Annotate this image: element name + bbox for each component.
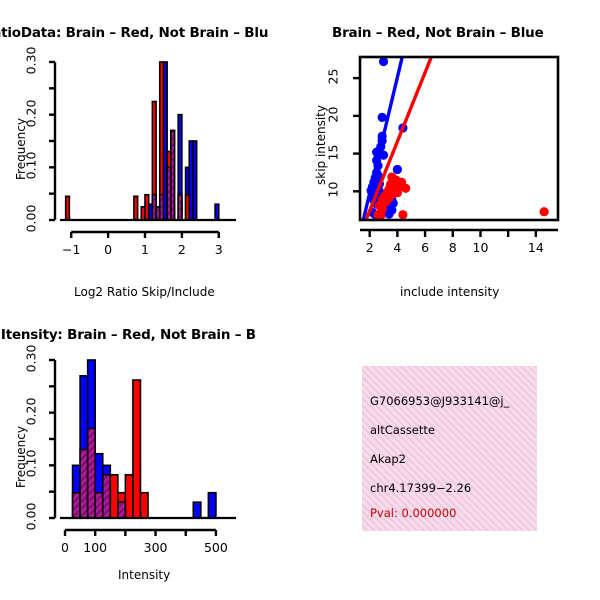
histogram-bar (215, 204, 219, 220)
y-tick-label: 0.10 (24, 447, 39, 481)
histogram-bar (80, 450, 88, 518)
histogram-bar (145, 195, 149, 220)
y-tick-label: 25 (326, 60, 341, 94)
info-line-probeset: G7066953@J933141@j_ (370, 394, 509, 408)
ratio-histogram-panel: RatioData: Brain – Red, Not Brain – Blu … (0, 0, 300, 310)
histogram-bar (140, 493, 148, 518)
intensity-histogram-plot (0, 320, 300, 570)
intensity-scatter-panel: Brain – Red, Not Brain – Blue skip inten… (300, 0, 600, 310)
histogram-bar (95, 493, 103, 518)
y-tick-label: 0.30 (24, 342, 39, 376)
x-tick-label: 3 (194, 242, 244, 257)
x-tick-label: 500 (191, 540, 241, 555)
y-tick-label: 15 (326, 135, 341, 169)
y-tick-label: 0.20 (24, 96, 39, 130)
y-tick-label: 0.00 (24, 500, 39, 534)
histogram-bar (178, 195, 182, 220)
histogram-bar (88, 428, 96, 518)
scatter-point (540, 207, 549, 216)
y-tick-label: 0.30 (24, 44, 39, 78)
scatter-point (398, 210, 407, 219)
histogram-bar (160, 195, 164, 220)
scatter-point (386, 180, 395, 189)
histogram-bar (193, 141, 197, 220)
x-tick-label: 100 (70, 540, 120, 555)
info-line-gene-symbol: Akap2 (370, 452, 406, 466)
x-tick-label: 10 (455, 240, 505, 255)
histogram-bar (73, 493, 81, 518)
info-line-event-type: altCassette (370, 423, 435, 437)
histogram-bar (208, 493, 216, 518)
ratio-histogram-plot (0, 20, 300, 300)
annotation-panel: G7066953@J933141@j_ altCassette Akap2 ch… (300, 310, 600, 600)
scatter-point (393, 165, 402, 174)
histogram-bar (134, 196, 138, 220)
histogram-bar (171, 130, 175, 220)
histogram-bar (186, 195, 190, 220)
intensity-histogram-panel: ne Itensity: Brain – Red, Not Brain – B … (0, 310, 300, 600)
scatter-point (379, 57, 388, 66)
y-tick-label: 20 (326, 97, 341, 131)
info-line-locus: chr4.17399−2.26 (370, 481, 471, 495)
histogram-bar (110, 475, 118, 518)
y-tick-label: 0.10 (24, 149, 39, 183)
y-tick-label: 0.00 (24, 202, 39, 236)
y-tick-label: 10 (326, 173, 341, 207)
info-line-pval: Pval: 0.000000 (370, 506, 456, 520)
intensity-histogram-xlabel: Intensity (118, 568, 170, 582)
scatter-point (393, 188, 402, 197)
histogram-bar (118, 502, 126, 518)
histogram-bar (125, 475, 133, 518)
y-tick-label: 0.20 (24, 394, 39, 428)
histogram-bar (133, 380, 141, 518)
scatter-plot (300, 20, 600, 300)
histogram-bar (193, 502, 201, 518)
histogram-bar (103, 475, 111, 518)
x-tick-label: 14 (511, 240, 561, 255)
histogram-bar (66, 196, 70, 220)
scatter-point (373, 210, 382, 219)
x-tick-label: 300 (131, 540, 181, 555)
